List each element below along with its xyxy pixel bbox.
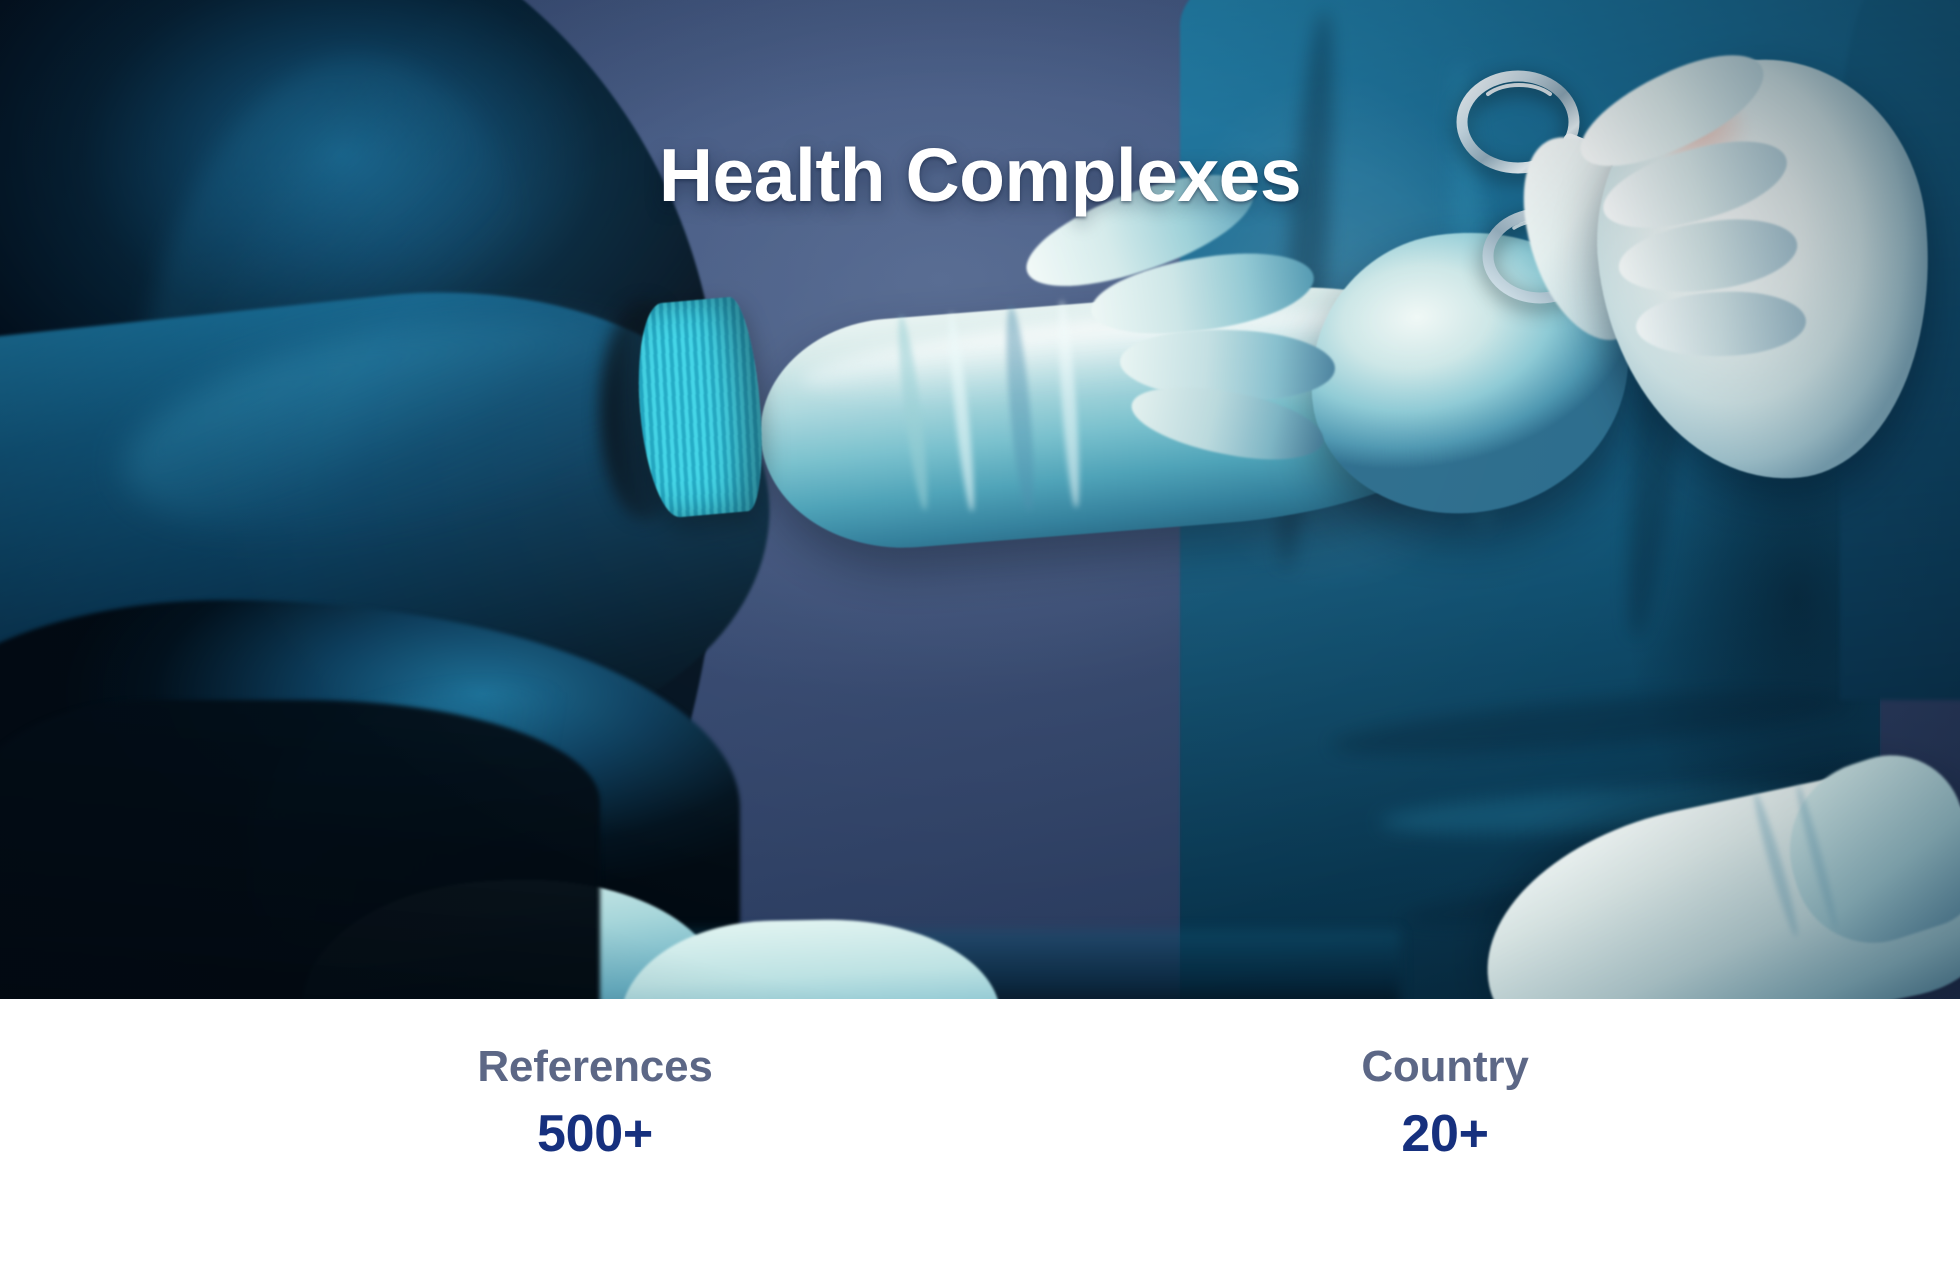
stat-country: Country 20+ xyxy=(1235,1041,1655,1165)
stat-country-value: 20+ xyxy=(1235,1105,1655,1165)
stat-references-label: References xyxy=(385,1041,805,1093)
stat-country-label: Country xyxy=(1235,1041,1655,1093)
hero-banner: Health Complexes xyxy=(0,0,1960,999)
stats-strip: References 500+ Country 20+ xyxy=(0,999,1960,1280)
stat-references-value: 500+ xyxy=(385,1105,805,1165)
page-root: Health Complexes References 500+ Country… xyxy=(0,0,1960,1280)
page-title: Health Complexes xyxy=(0,132,1960,218)
stat-references: References 500+ xyxy=(385,1041,805,1165)
